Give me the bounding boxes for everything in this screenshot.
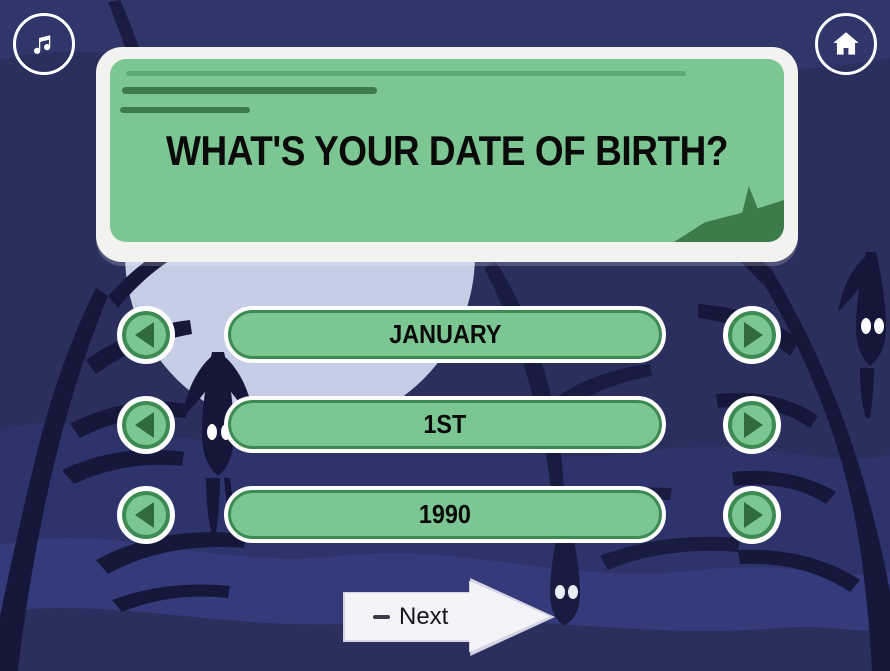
banner-decoration-corner xyxy=(674,172,784,242)
banner-decoration-line-2 xyxy=(120,107,250,113)
month-prev-button[interactable] xyxy=(117,306,175,364)
next-label: Next xyxy=(399,603,448,631)
next-dash-decoration xyxy=(373,615,390,619)
day-prev-button[interactable] xyxy=(117,396,175,454)
year-prev-button[interactable] xyxy=(117,486,175,544)
day-next-button[interactable] xyxy=(723,396,781,454)
music-toggle-button[interactable] xyxy=(13,13,75,75)
question-banner-inner: WHAT'S YOUR DATE OF BIRTH? xyxy=(110,59,784,242)
next-button[interactable]: Next xyxy=(343,578,555,656)
quiz-screen: WHAT'S YOUR DATE OF BIRTH? JANUARY 1ST xyxy=(0,0,890,671)
month-value: JANUARY xyxy=(389,319,501,350)
selector-row-day: 1ST xyxy=(0,393,890,483)
date-selectors: JANUARY 1ST 1990 xyxy=(0,303,890,573)
triangle-left-icon xyxy=(135,502,154,528)
triangle-left-icon xyxy=(135,322,154,348)
music-note-icon xyxy=(29,29,59,59)
triangle-right-icon xyxy=(744,322,763,348)
question-banner: WHAT'S YOUR DATE OF BIRTH? xyxy=(96,47,798,262)
selector-row-month: JANUARY xyxy=(0,303,890,393)
year-value: 1990 xyxy=(419,499,471,530)
triangle-right-icon xyxy=(744,412,763,438)
month-value-pill[interactable]: JANUARY xyxy=(224,306,666,363)
selector-row-year: 1990 xyxy=(0,483,890,573)
year-next-button[interactable] xyxy=(723,486,781,544)
month-next-button[interactable] xyxy=(723,306,781,364)
day-value-pill[interactable]: 1ST xyxy=(224,396,666,453)
home-button[interactable] xyxy=(815,13,877,75)
triangle-left-icon xyxy=(135,412,154,438)
banner-decoration-line-1 xyxy=(122,87,377,94)
question-text: WHAT'S YOUR DATE OF BIRTH? xyxy=(150,127,743,175)
home-icon xyxy=(830,28,862,60)
year-value-pill[interactable]: 1990 xyxy=(224,486,666,543)
triangle-right-icon xyxy=(744,502,763,528)
day-value: 1ST xyxy=(424,409,467,440)
banner-decoration-line-top xyxy=(126,71,686,76)
